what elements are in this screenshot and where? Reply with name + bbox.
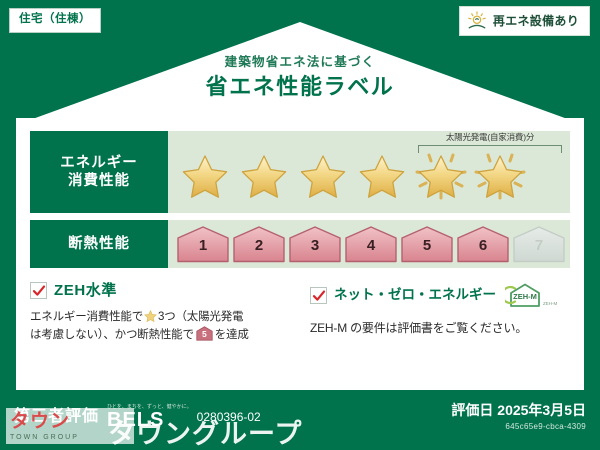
star-list (168, 148, 529, 204)
house-badge-number: 2 (232, 238, 286, 253)
house-badge-number: 1 (176, 238, 230, 253)
house-badge-active: 4 (344, 225, 398, 263)
zeh-desc-part4: を達成 (215, 329, 249, 341)
star-solar (471, 148, 529, 204)
dwelling-type-tag: 住宅（住棟） (9, 8, 101, 33)
star-solar (412, 148, 470, 204)
house-badge-active: 3 (288, 225, 342, 263)
star-filled (235, 148, 293, 204)
title-subtitle: 建築物省エネ法に基づく (0, 56, 600, 69)
evaluation-date: 評価日 2025年3月5日 (451, 403, 586, 417)
bels-wordmark: BELS (107, 410, 192, 430)
page-title: 省エネ性能ラベル (0, 76, 600, 98)
zehm-logo-tm: ZEH-M (543, 301, 557, 306)
zehm-callout-head: ネット・ゼロ・エネルギー ZEH-M ZEH-M (310, 282, 570, 308)
insulation-rating-badges: 1234567 (168, 220, 570, 268)
label-footer: 第三者評価 ひとを、まちを、ずっと、健やかに。 BELS 0280396-02 … (0, 390, 600, 450)
star-icon (417, 154, 465, 200)
inline-star-icon (144, 310, 157, 323)
zeh-desc-part2: 3つ（太陽光発電 (158, 311, 243, 323)
energy-performance-row: エネルギー 消費性能 太陽光発電(自家消費)分 (30, 131, 570, 213)
house-badge-inactive: 7 (512, 225, 566, 263)
house-badge-number: 3 (288, 238, 342, 253)
renewable-equipment-badge: 再エネ設備あり (459, 6, 590, 36)
star-icon (299, 154, 347, 200)
energy-performance-label-box: エネルギー 消費性能 (30, 131, 168, 213)
energy-performance-label: 住宅（住棟） 再エネ設備あり 建築物省エネ法に基づく 省エネ性能ラベル (0, 0, 600, 450)
star-icon (358, 154, 406, 200)
evaluation-id: 645c65e9-cbca-4309 (451, 423, 586, 431)
house-badge-number: 4 (344, 238, 398, 253)
footer-right: 評価日 2025年3月5日 645c65e9-cbca-4309 (451, 403, 586, 431)
house-badge-number: 6 (456, 238, 510, 253)
house-badge-active: 6 (456, 225, 510, 263)
sun-solar-icon (466, 11, 488, 31)
zeh-desc-part1: エネルギー消費性能で (30, 311, 143, 323)
bels-logo: ひとを、まちを、ずっと、健やかに。 BELS 0280396-02 (107, 404, 261, 430)
insulation-label: 断熱性能 (68, 235, 130, 253)
star-icon (476, 154, 524, 200)
zeh-m-logo-icon: ZEH-M ZEH-M (505, 282, 557, 308)
star-filled (294, 148, 352, 204)
zehm-title: ネット・ゼロ・エネルギー (334, 288, 496, 302)
house-badge-active: 2 (232, 225, 286, 263)
house-badge-number: 5 (400, 238, 454, 253)
footer-left: 第三者評価 ひとを、まちを、ずっと、健やかに。 BELS 0280396-02 (14, 404, 261, 430)
star-icon (181, 154, 229, 200)
star-filled (353, 148, 411, 204)
bels-certificate-number: 0280396-02 (197, 411, 261, 423)
solar-generation-annotation: 太陽光発電(自家消費)分 (418, 133, 562, 153)
zeh-checkbox[interactable] (30, 282, 47, 299)
inline-house-number: 5 (196, 330, 213, 339)
renewable-badge-label: 再エネ設備あり (493, 15, 579, 27)
check-icon (312, 289, 326, 303)
inline-house-badge: 5 (196, 326, 213, 341)
zeh-desc-part3: は考慮しない）、かつ断熱性能で (30, 329, 194, 341)
zehm-description: ZEH-M の要件は評価書をご覧ください。 (310, 319, 570, 338)
check-icon (32, 284, 46, 298)
title-block: 建築物省エネ法に基づく 省エネ性能ラベル (0, 56, 600, 98)
house-badge-active: 5 (400, 225, 454, 263)
zeh-title: ZEH水準 (54, 283, 117, 298)
svg-text:ZEH-M: ZEH-M (513, 292, 537, 301)
solar-bracket (418, 145, 562, 153)
evaluation-date-value: 2025年3月5日 (497, 402, 586, 418)
bels-text-group: ひとを、まちを、ずっと、健やかに。 BELS (107, 404, 192, 430)
house-badge-list: 1234567 (168, 225, 566, 263)
callout-section: ZEH水準 エネルギー消費性能で3つ（太陽光発電 は考慮しない）、かつ断熱性能で… (30, 282, 570, 374)
house-badge-active: 1 (176, 225, 230, 263)
zehm-callout: ネット・ゼロ・エネルギー ZEH-M ZEH-M ZEH-M の要件は評価書をご… (290, 282, 570, 374)
energy-rating-stars: 太陽光発電(自家消費)分 (168, 131, 570, 213)
solar-note-text: 太陽光発電(自家消費)分 (418, 133, 562, 142)
zeh-callout-head: ZEH水準 (30, 282, 290, 299)
star-filled (176, 148, 234, 204)
star-icon (240, 154, 288, 200)
zehm-checkbox[interactable] (310, 287, 327, 304)
house-badge-number: 7 (512, 238, 566, 253)
insulation-performance-row: 断熱性能 1234567 (30, 220, 570, 268)
energy-label-line1: エネルギー (60, 154, 138, 172)
evaluation-date-label: 評価日 (451, 402, 493, 418)
energy-label-line2: 消費性能 (68, 172, 130, 190)
insulation-performance-label-box: 断熱性能 (30, 220, 168, 268)
zeh-callout: ZEH水準 エネルギー消費性能で3つ（太陽光発電 は考慮しない）、かつ断熱性能で… (30, 282, 290, 374)
zeh-description: エネルギー消費性能で3つ（太陽光発電 は考慮しない）、かつ断熱性能で5を達成 (30, 308, 290, 345)
label-body: エネルギー 消費性能 太陽光発電(自家消費)分 断熱性能 1234567 (16, 118, 584, 390)
third-party-evaluation-label: 第三者評価 (14, 409, 99, 425)
